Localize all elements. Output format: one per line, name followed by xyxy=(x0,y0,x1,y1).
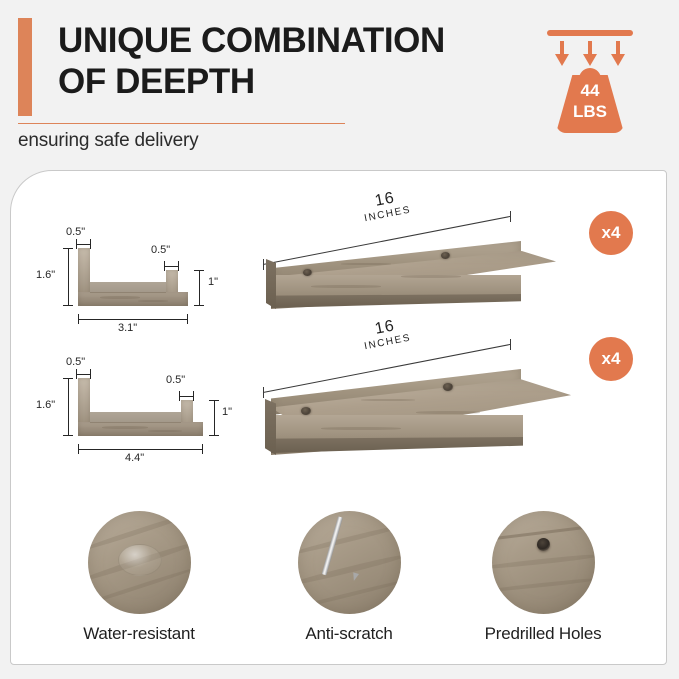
small-shelf-profile: 0.5" 0.5" 1.6" 1" 3.1" xyxy=(36,226,221,336)
predrilled-hole xyxy=(301,407,311,415)
feature-label: Anti-scratch xyxy=(249,624,449,644)
dim-width: 3.1" xyxy=(118,322,137,334)
dim-height: 1.6" xyxy=(36,399,55,411)
dim-width: 4.4" xyxy=(125,452,144,464)
feature-label: Predrilled Holes xyxy=(443,624,643,644)
title-divider xyxy=(18,123,345,124)
shelf-16in-deep: 16 INCHES x4 xyxy=(251,319,571,464)
weight-unit: LBS xyxy=(556,102,624,122)
title-line-1: UNIQUE COMBINATION xyxy=(58,20,528,61)
feature-anti-scratch: Anti-scratch xyxy=(249,511,449,644)
dim-lip-height: 1" xyxy=(208,276,218,288)
feature-predrilled-holes: Predrilled Holes xyxy=(443,511,643,644)
profile-wood-shape xyxy=(78,378,203,436)
title-line-2: OF DEEPTH xyxy=(58,61,528,102)
shelf-bar-icon xyxy=(547,30,633,36)
drill-hole-icon xyxy=(492,511,595,614)
shelf-16in-shallow: 16 INCHES x4 xyxy=(251,189,571,319)
predrilled-hole xyxy=(443,383,453,391)
dim-wall-left: 0.5" xyxy=(66,226,85,238)
page-title: UNIQUE COMBINATION OF DEEPTH xyxy=(58,20,528,102)
weight-value: 44 xyxy=(556,81,624,101)
down-arrow-icon xyxy=(611,41,625,67)
dim-height: 1.6" xyxy=(36,269,55,281)
shelf-length-label: 16 INCHES xyxy=(344,312,428,356)
dim-wall-right: 0.5" xyxy=(151,244,170,256)
down-arrow-icon xyxy=(583,41,597,67)
profile-wood-shape xyxy=(78,248,188,306)
nail-icon xyxy=(298,511,401,614)
feature-label: Water-resistant xyxy=(39,624,239,644)
subtitle-text: ensuring safe delivery xyxy=(18,130,198,152)
accent-bar xyxy=(18,18,32,116)
quantity-badge-shelf-1: x4 xyxy=(589,211,633,255)
feature-water-resistant: Water-resistant xyxy=(39,511,239,644)
weight-capacity-icon: 44 LBS xyxy=(538,25,642,135)
quantity-badge-shelf-2: x4 xyxy=(589,337,633,381)
dim-wall-left: 0.5" xyxy=(66,356,85,368)
down-arrow-icon xyxy=(555,41,569,67)
water-droplet-icon xyxy=(88,511,191,614)
predrilled-hole xyxy=(441,252,450,259)
large-shelf-profile: 0.5" 0.5" 1.6" 1" 4.4" xyxy=(36,356,231,471)
dim-wall-right: 0.5" xyxy=(166,374,185,386)
predrilled-hole xyxy=(303,269,312,276)
dim-lip-height: 1" xyxy=(222,406,232,418)
header-banner: UNIQUE COMBINATION OF DEEPTH ensuring sa… xyxy=(0,0,679,160)
product-diagram-card: 0.5" 0.5" 1.6" 1" 3.1" xyxy=(10,170,667,665)
shelf-length-label: 16 INCHES xyxy=(344,184,428,228)
